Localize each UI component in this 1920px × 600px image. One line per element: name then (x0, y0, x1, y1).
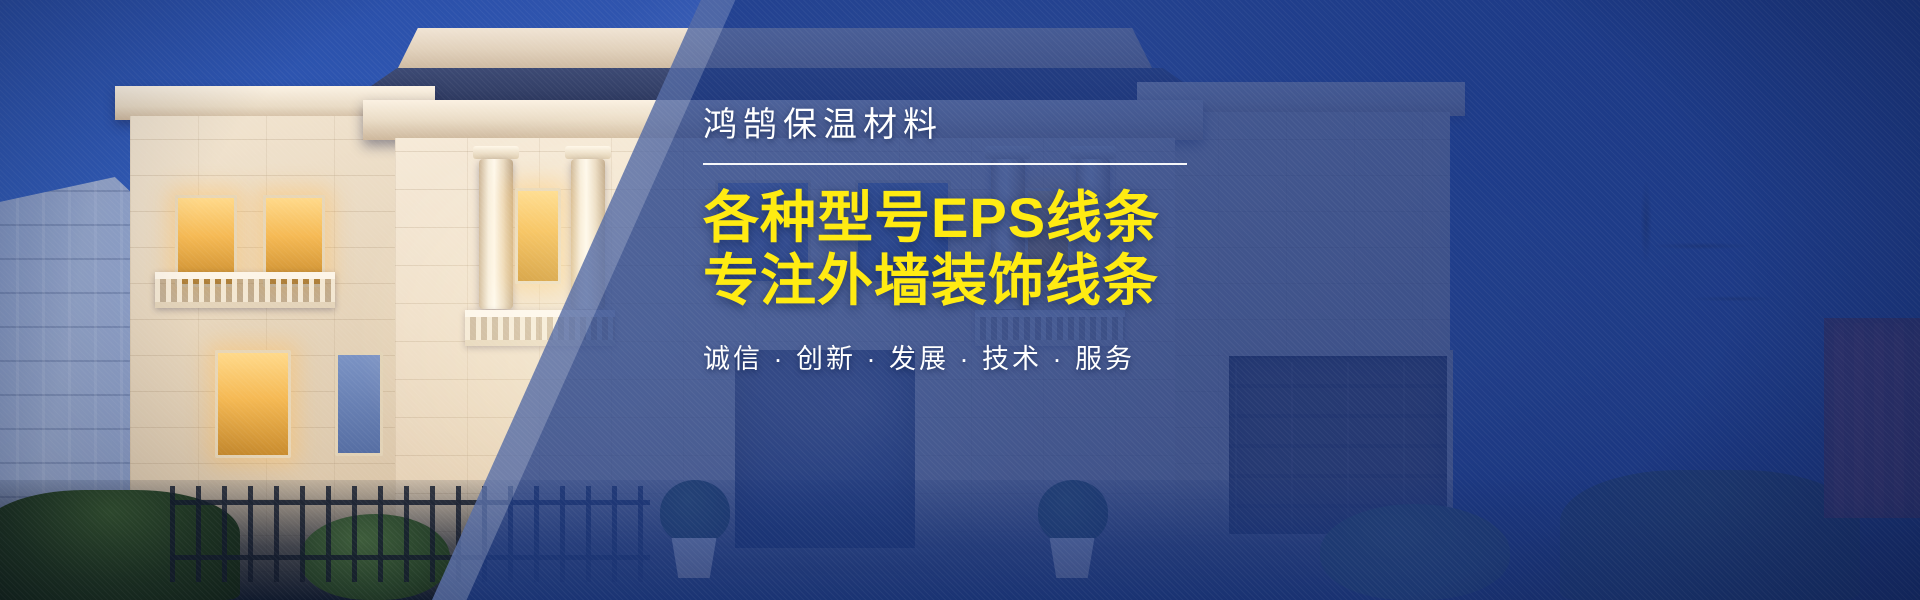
window-glass (335, 352, 383, 456)
window-lit (515, 188, 561, 284)
hero-banner: 鸿鹄保温材料 各种型号EPS线条 专注外墙装饰线条 诚信 · 创新 · 发展 ·… (0, 0, 1920, 600)
banner-copy: 鸿鹄保温材料 各种型号EPS线条 专注外墙装饰线条 诚信 · 创新 · 发展 ·… (703, 108, 1263, 376)
divider-rule (703, 163, 1187, 165)
headline: 各种型号EPS线条 专注外墙装饰线条 (703, 186, 1263, 313)
brand-name: 鸿鹄保温材料 (703, 108, 1263, 142)
window-lit (215, 350, 291, 458)
column (479, 159, 513, 309)
tagline: 诚信 · 创新 · 发展 · 技术 · 服务 (703, 337, 1263, 376)
column-capital (565, 146, 611, 159)
column-capital (473, 146, 519, 159)
headline-line-2: 专注外墙装饰线条 (703, 249, 1263, 312)
headline-line-1: 各种型号EPS线条 (703, 186, 1263, 249)
balustrade (155, 272, 335, 308)
